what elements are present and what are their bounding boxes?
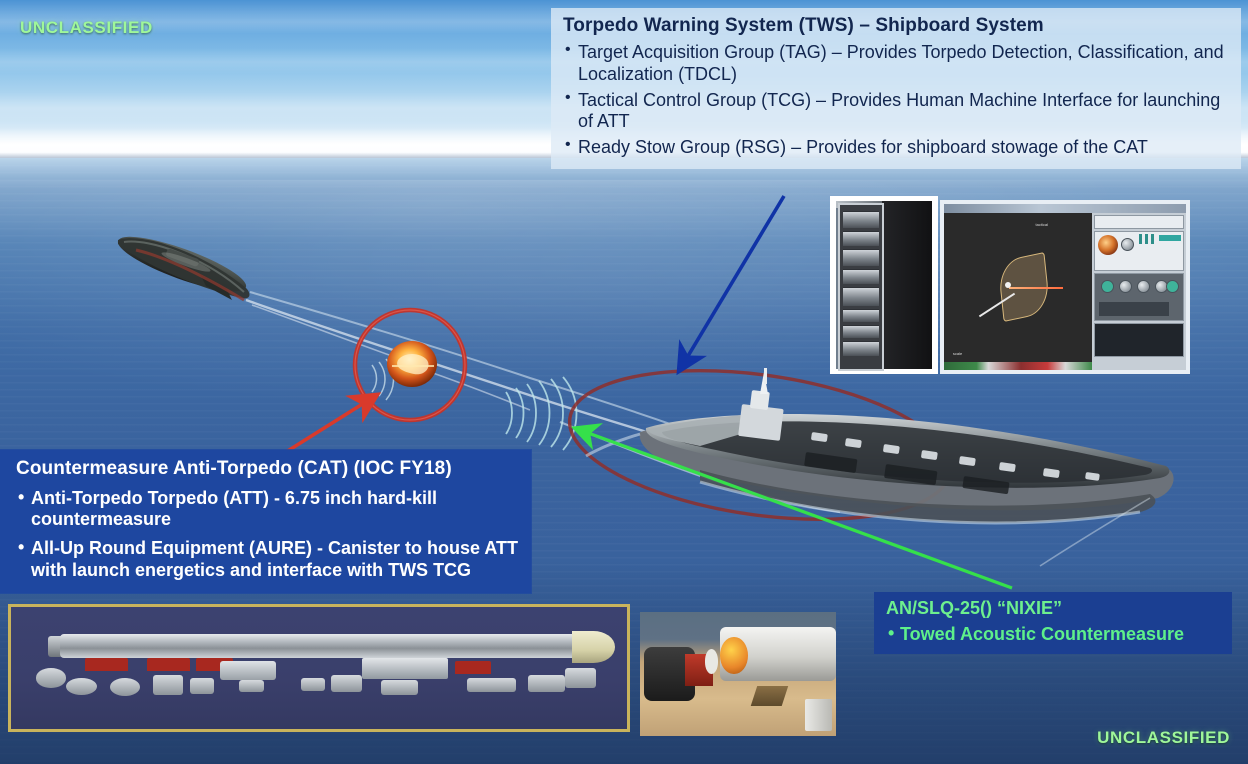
- tws-bullet-tcg: Tactical Control Group (TCG) – Provides …: [563, 90, 1231, 132]
- server-rack-photo: [830, 196, 938, 374]
- nixie-bullet-towed: Towed Acoustic Countermeasure: [886, 624, 1222, 646]
- tws-callout-box: Torpedo Warning System (TWS) – Shipboard…: [551, 8, 1241, 169]
- nixie-callout-box: AN/SLQ-25() “NIXIE” Towed Acoustic Count…: [874, 592, 1232, 654]
- cat-title: Countermeasure Anti-Torpedo (CAT) (IOC F…: [16, 458, 521, 481]
- cat-bullet-aure: All-Up Round Equipment (AURE) - Canister…: [16, 538, 521, 581]
- tws-bullet-list: Target Acquisition Group (TAG) – Provide…: [563, 42, 1231, 158]
- nixie-towed-body-photo: [640, 612, 836, 736]
- tws-bullet-tag: Target Acquisition Group (TAG) – Provide…: [563, 42, 1231, 84]
- tws-bullet-rsg: Ready Stow Group (RSG) – Provides for sh…: [563, 137, 1231, 158]
- cat-bullet-att: Anti-Torpedo Torpedo (ATT) - 6.75 inch h…: [16, 488, 521, 531]
- nixie-bullet-list: Towed Acoustic Countermeasure: [886, 624, 1222, 646]
- torpedo-exploded-photo: [8, 604, 630, 732]
- tactical-console-photo: tactical scale: [940, 200, 1190, 374]
- classification-marking-top: UNCLASSIFIED: [20, 18, 153, 38]
- classification-marking-bottom: UNCLASSIFIED: [1097, 728, 1230, 748]
- cat-callout-box: Countermeasure Anti-Torpedo (CAT) (IOC F…: [0, 450, 531, 593]
- nixie-title: AN/SLQ-25() “NIXIE”: [886, 598, 1222, 620]
- cat-bullet-list: Anti-Torpedo Torpedo (ATT) - 6.75 inch h…: [16, 488, 521, 581]
- slide-canvas: tactical scale: [0, 0, 1248, 764]
- tws-title: Torpedo Warning System (TWS) – Shipboard…: [563, 15, 1231, 37]
